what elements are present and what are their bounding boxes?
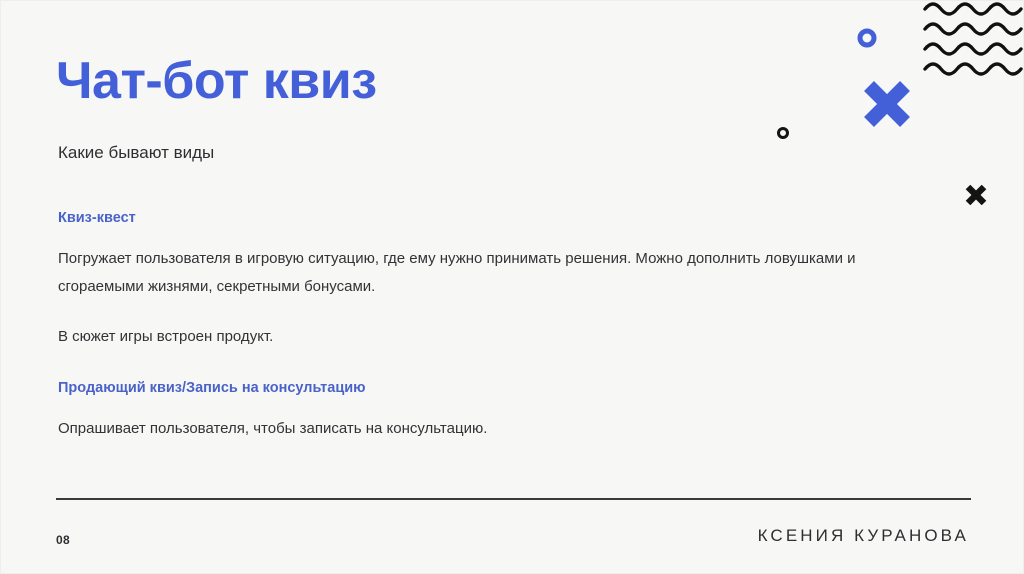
section-heading: Квиз-квест [58, 209, 878, 228]
slide-canvas: Чат-бот квиз Какие бывают виды Квиз-квес… [0, 0, 1024, 574]
section-quiz-quest: Квиз-квест Погружает пользователя в игро… [58, 209, 878, 351]
section-paragraph: В сюжет игры встроен продукт. [58, 323, 878, 351]
section-paragraph: Погружает пользователя в игровую ситуаци… [58, 245, 878, 301]
page-number: 08 [56, 532, 70, 548]
footer-divider [56, 498, 971, 500]
section-paragraph: Опрашивает пользователя, чтобы записать … [58, 415, 878, 443]
page-title: Чат-бот квиз [56, 52, 377, 110]
section-selling-quiz: Продающий квиз/Запись на консультацию Оп… [58, 379, 878, 443]
author-name: КСЕНИЯ КУРАНОВА [758, 525, 969, 547]
slide-content: Чат-бот квиз Какие бывают виды Квиз-квес… [56, 1, 976, 574]
page-subtitle: Какие бывают виды [58, 142, 214, 164]
section-heading: Продающий квиз/Запись на консультацию [58, 379, 878, 398]
